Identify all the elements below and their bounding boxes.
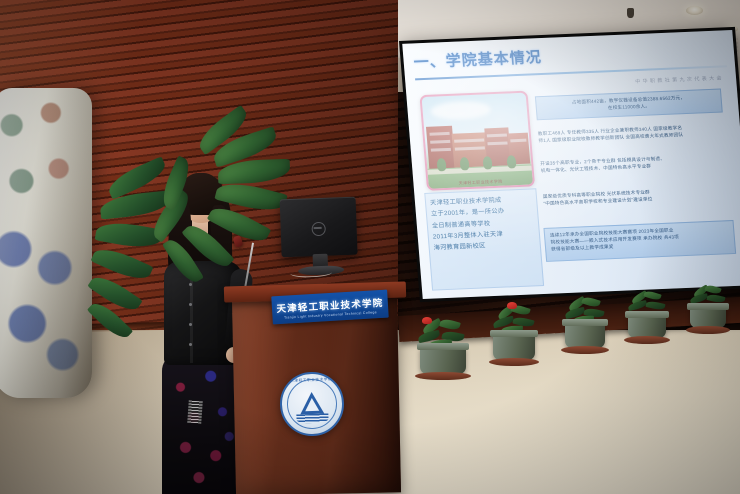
- plant-leaf: [439, 317, 461, 331]
- left-blue-text-panel: 天津轻工职业技术学院成 立于2001年，是一所公办 全日制普通高等学校 2011…: [424, 188, 544, 290]
- slide-block-majors: 开设35个高职专业，2个骨干专业群 包括模具设计与制造、 机电一体化、光伏工程技…: [540, 152, 731, 175]
- belt-detail: [187, 401, 203, 424]
- downlight-icon: [686, 6, 703, 15]
- slide-block-area: 占地面积442亩，教学仪器设备总值2388.6562万元， 在校生11000余人…: [535, 89, 723, 121]
- monitor-rear-panel: [280, 197, 358, 258]
- plant-pot: [628, 315, 666, 338]
- ceiling-sensor-icon: [627, 8, 634, 18]
- potted-plant: [690, 286, 726, 334]
- pot-saucer: [415, 372, 470, 380]
- red-flower: [422, 317, 432, 324]
- plant-pot: [420, 347, 466, 374]
- screen-frame: 一、学院基本情况 中 华 职 教 社 第 九 次 代 表 大 会: [399, 27, 740, 302]
- slide-title-area: 一、学院基本情况: [413, 38, 725, 81]
- plant-leaf: [581, 295, 601, 308]
- plant-pot: [690, 307, 726, 328]
- pot-saucer: [489, 358, 539, 366]
- potted-plant: [493, 306, 535, 366]
- podium[interactable]: 天津轻工职业技术学院 Tianjin Light Industry Vocati…: [228, 284, 403, 494]
- tree: [507, 155, 517, 168]
- palm-leaf: [157, 156, 195, 211]
- red-flower: [507, 302, 517, 309]
- pot-saucer: [624, 336, 670, 344]
- slide-block-faculty: 教职工469人 专任教师335人 行业企业兼职教师340人 国家级教学名 师1人…: [538, 122, 729, 145]
- campus-photo: 天津轻工职业技术学院: [419, 91, 535, 191]
- emblem-arc-text: 天津轻工职业技术学院: [281, 377, 341, 384]
- vase-shading: [0, 88, 92, 398]
- tree: [483, 156, 493, 169]
- slide-corner-mark: 中 华 职 教 社 第 九 次 代 表 大 会: [635, 74, 722, 85]
- plant-leaf: [645, 300, 665, 311]
- emblem-inner-sail-shape: [305, 398, 319, 411]
- potted-plant: [565, 298, 605, 354]
- dell-monitor[interactable]: [280, 197, 359, 280]
- potted-plant: [628, 292, 666, 344]
- potted-plant: [420, 318, 466, 380]
- slide-block-national: 国家级优质专科高等职业院校 光伏系统技术专业群 “中国特色高水平高职学校和专业建…: [543, 185, 734, 208]
- pot-saucer: [561, 346, 609, 354]
- slide-block-awards: 连续12年承办全国职业院校技能大赛赛项 2023年全国职业 院校技能大赛——嵌入…: [543, 220, 736, 262]
- cloud: [430, 100, 491, 120]
- plant-pot: [493, 334, 535, 360]
- photo-scene: 一、学院基本情况 中 华 职 教 社 第 九 次 代 表 大 会: [0, 0, 740, 494]
- plant-pot: [565, 323, 605, 348]
- monitor-cable: [290, 268, 332, 278]
- porcelain-dragon-vase: [0, 88, 92, 398]
- pot-saucer: [686, 326, 729, 334]
- slide-content: 一、学院基本情况 中 华 职 教 社 第 九 次 代 表 大 会: [402, 30, 740, 299]
- dell-logo-icon: [311, 222, 325, 236]
- tree: [437, 158, 447, 171]
- tree: [460, 157, 470, 170]
- plant-leaf: [627, 300, 647, 311]
- projection-screen[interactable]: 一、学院基本情况 中 华 职 教 社 第 九 次 代 表 大 会: [399, 27, 740, 302]
